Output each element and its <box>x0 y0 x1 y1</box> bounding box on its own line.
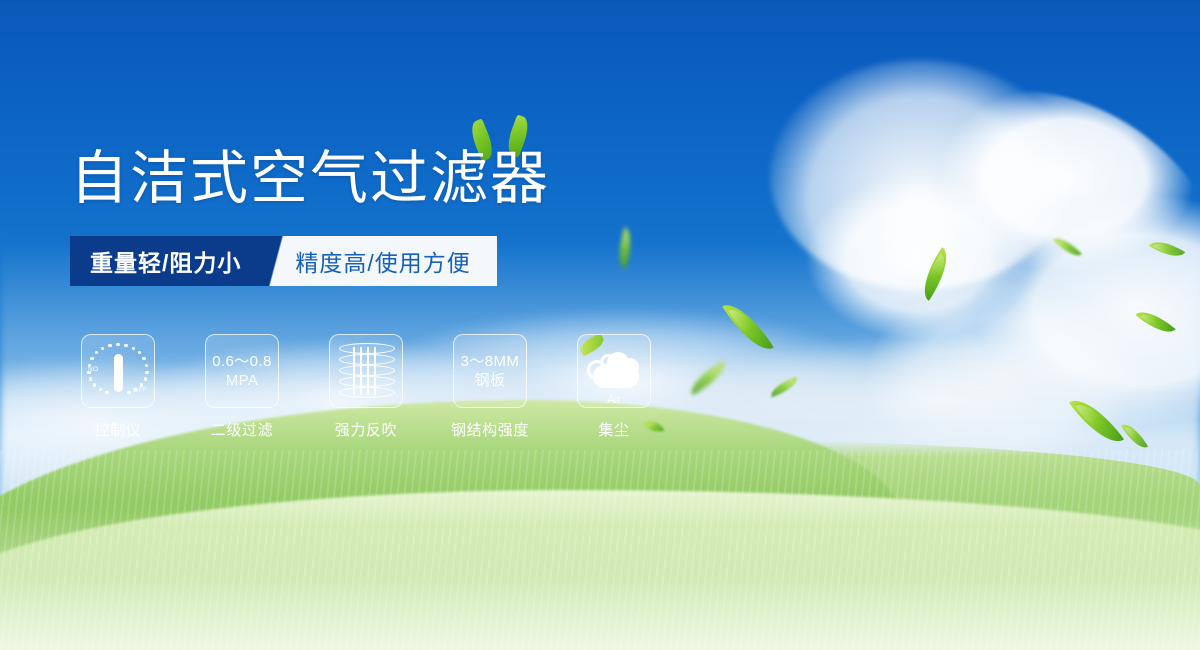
banner-content: 自洁式空气过滤器 重量轻/阻力小 精度高/使用方便 <box>0 0 1200 650</box>
subtitle-left-segment: 重量轻/阻力小 <box>70 236 263 286</box>
feature-label: 钢结构强度 <box>451 419 529 440</box>
steel-plate-text-icon: 3～8MM 钢板 <box>461 352 520 390</box>
steel-line-2: 钢板 <box>461 371 520 390</box>
filter-rings-icon <box>339 343 393 399</box>
feature-item-steel-strength[interactable]: 3～8MM 钢板 钢结构强度 <box>442 334 538 440</box>
feature-item-secondary-filter[interactable]: 0.6～0.8 MPA 二级过滤 <box>194 334 290 440</box>
cloud-body <box>593 364 639 388</box>
page-title: 自洁式空气过滤器 <box>70 148 550 210</box>
feature-item-dust-collection[interactable]: Air 集尘 <box>566 334 662 440</box>
subtitle-bar: 重量轻/阻力小 精度高/使用方便 <box>70 236 497 286</box>
subtitle-divider <box>263 236 289 286</box>
dial-on-label: NO <box>88 366 98 373</box>
dial-needle <box>114 354 123 392</box>
control-dial-icon: NO OFF <box>87 340 149 402</box>
pressure-line-2: MPA <box>212 371 272 390</box>
air-cloud-icon: Air <box>585 348 643 394</box>
cloud-leaf-accent <box>577 334 606 356</box>
air-label: Air <box>585 394 643 406</box>
feature-icon-box: 3～8MM 钢板 <box>453 334 527 408</box>
steel-line-1: 3～8MM <box>461 352 520 371</box>
feature-icon-box: NO OFF <box>81 334 155 408</box>
feature-icon-box: Air <box>577 334 651 408</box>
feature-label: 二级过滤 <box>211 419 273 440</box>
feature-item-back-blow[interactable]: 强力反吹 <box>318 334 414 440</box>
feature-list: NO OFF 控制仪 0.6～0.8 MPA 二级过滤 <box>70 334 662 440</box>
pressure-text-icon: 0.6～0.8 MPA <box>212 352 272 390</box>
product-hero-banner: 自洁式空气过滤器 重量轻/阻力小 精度高/使用方便 <box>0 0 1200 650</box>
feature-label: 强力反吹 <box>335 419 397 440</box>
feature-icon-box <box>329 334 403 408</box>
feature-icon-box: 0.6～0.8 MPA <box>205 334 279 408</box>
subtitle-right-segment: 精度高/使用方便 <box>289 236 496 286</box>
feature-label: 控制仪 <box>95 419 142 440</box>
feature-item-controller[interactable]: NO OFF 控制仪 <box>70 334 166 440</box>
feature-label: 集尘 <box>598 419 629 440</box>
dial-off-label: OFF <box>133 387 147 394</box>
pressure-line-1: 0.6～0.8 <box>212 352 272 371</box>
